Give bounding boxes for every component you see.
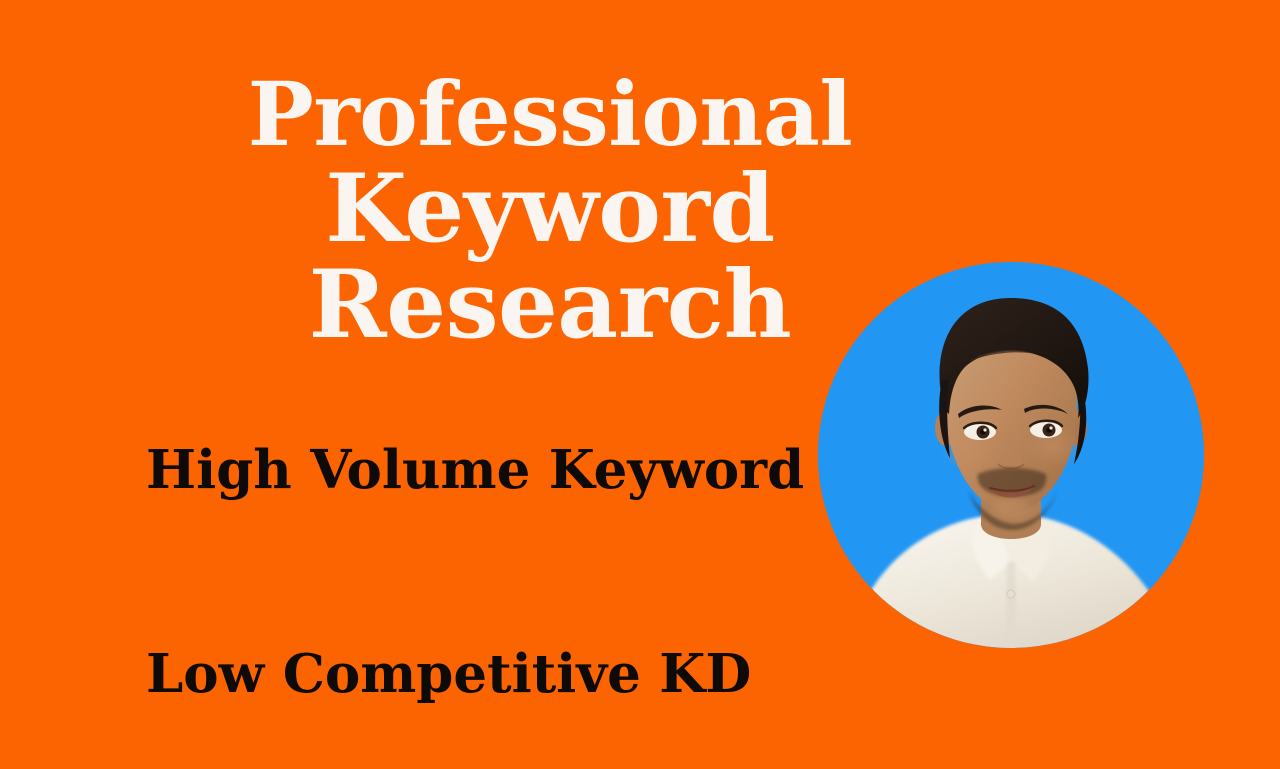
feature-list: High Volume Keyword Low Competitive KD L… bbox=[146, 300, 825, 769]
headline-line-1: Professional bbox=[120, 70, 980, 160]
list-item: High Volume Keyword bbox=[146, 436, 825, 504]
keyword-research-banner: Professional Keyword Research High Volum… bbox=[0, 0, 1280, 769]
list-item: Low Competitive KD bbox=[146, 640, 825, 708]
avatar bbox=[818, 262, 1204, 648]
portrait-illustration bbox=[818, 262, 1204, 648]
